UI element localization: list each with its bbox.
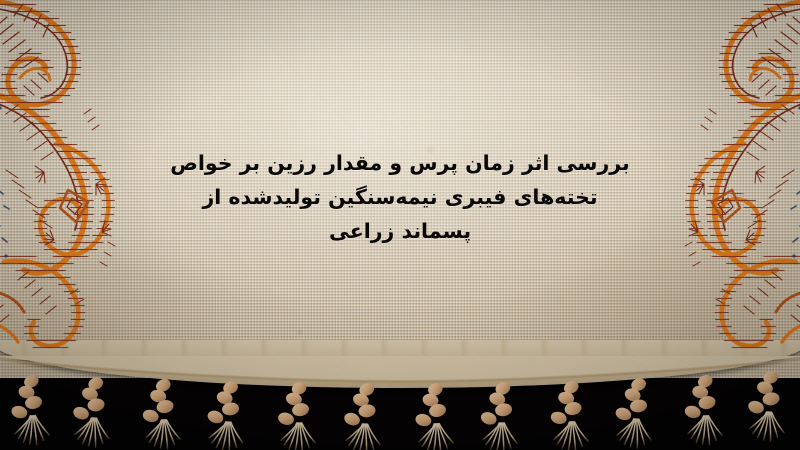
slide-title: بررسی اثر زمان پرس و مقدار رزین بر خواص … bbox=[0, 146, 800, 248]
title-slide: بررسی اثر زمان پرس و مقدار رزین بر خواص … bbox=[0, 0, 800, 450]
title-line-1: بررسی اثر زمان پرس و مقدار رزین بر خواص bbox=[150, 146, 650, 180]
title-line-2: تخته‌های فیبری نیمه‌سنگین تولیدشده از bbox=[150, 180, 650, 214]
title-line-3: پسماند زراعی bbox=[150, 214, 650, 248]
tassel-fringe bbox=[0, 356, 800, 450]
